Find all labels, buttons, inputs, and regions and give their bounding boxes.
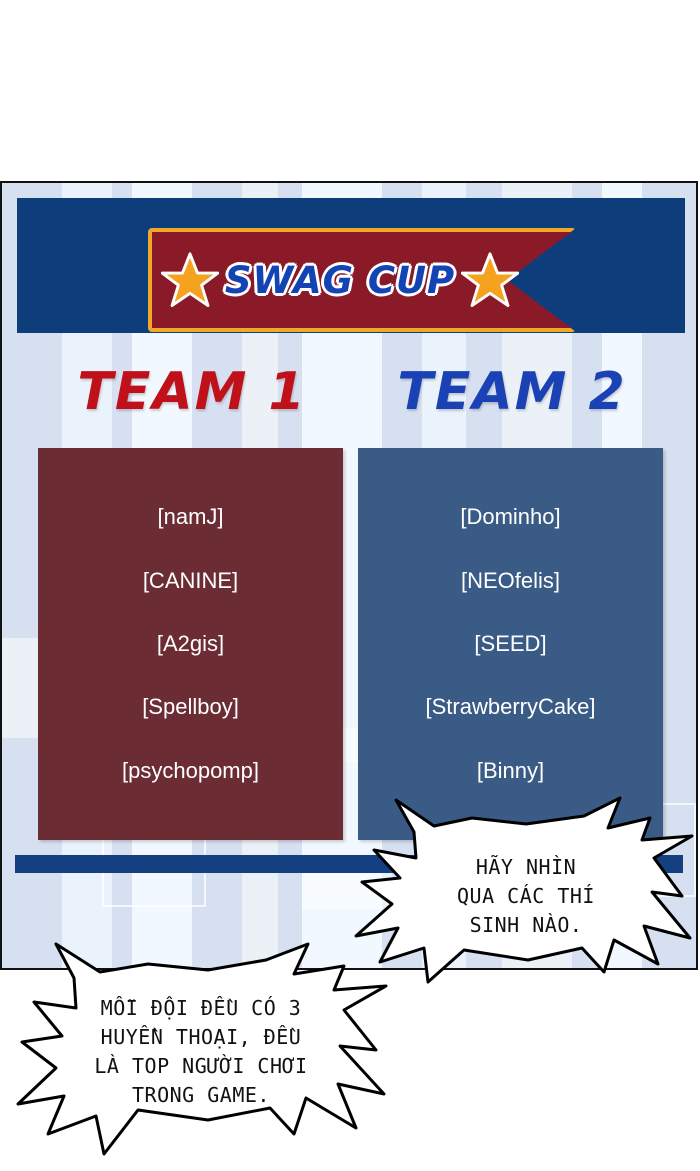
player-name: [Spellboy] [142,695,239,719]
speech-line: TRONG GAME. [132,1081,270,1110]
speech-bubble-bottom: MỖI ĐỘI ĐỀU CÓ 3 HUYỀN THOẠI, ĐỀU LÀ TOP… [8,938,392,1171]
player-name: [A2gis] [157,632,224,656]
player-name: [NEOfelis] [461,569,560,593]
speech-bubble-text: HÃY NHÌN QUA CÁC THÍ SINH NÀO. [408,832,644,960]
player-name: [SEED] [474,632,546,656]
player-name: [Binny] [477,759,544,783]
speech-line: MỖI ĐỘI ĐỀU CÓ 3 [101,994,302,1023]
speech-line: HÃY NHÌN [476,853,576,882]
swag-cup-banner: SWAG CUP [148,228,576,332]
player-name: [psychopomp] [122,759,259,783]
player-name: [CANINE] [143,569,238,593]
speech-bubble-top: HÃY NHÌN QUA CÁC THÍ SINH NÀO. [352,796,700,996]
banner-title: SWAG CUP [225,259,455,302]
speech-line: HUYỀN THOẠI, ĐỀU [101,1023,302,1052]
team-1-roster: [namJ] [CANINE] [A2gis] [Spellboy] [psyc… [38,448,343,840]
speech-line: SINH NÀO. [470,911,583,940]
star-icon [161,252,219,308]
team-1-heading: TEAM 1 [52,362,332,422]
speech-line: LÀ TOP NGƯỜI CHƠI [94,1052,307,1081]
star-icon [461,252,519,308]
team-2-heading: TEAM 2 [372,362,652,422]
player-name: [StrawberryCake] [426,695,596,719]
speech-line: QUA CÁC THÍ [457,882,595,911]
team-2-roster: [Dominho] [NEOfelis] [SEED] [StrawberryC… [358,448,663,840]
speech-bubble-text: MỖI ĐỘI ĐỀU CÓ 3 HUYỀN THOẠI, ĐỀU LÀ TOP… [68,978,334,1126]
player-name: [Dominho] [460,505,560,529]
player-name: [namJ] [157,505,223,529]
background-shape [2,678,42,738]
